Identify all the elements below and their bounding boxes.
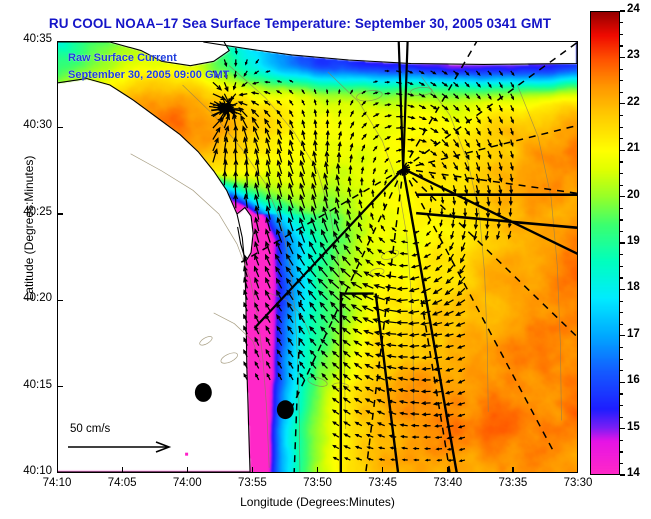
colorbar-minor-tick: [620, 34, 623, 35]
y-tick: [57, 213, 63, 214]
y-tick-label: 40:35: [2, 33, 52, 45]
colorbar-minor-tick: [620, 312, 623, 313]
colorbar-minor-tick: [620, 127, 623, 128]
colorbar-minor-tick: [620, 359, 623, 360]
colorbar-tick: [620, 474, 625, 475]
colorbar-tick-label: 22: [627, 96, 640, 108]
colorbar-minor-tick: [620, 463, 623, 464]
colorbar-minor-tick: [620, 451, 623, 452]
colorbar-tick-label: 21: [627, 142, 640, 154]
colorbar-tick: [620, 10, 625, 11]
colorbar-minor-tick: [620, 370, 623, 371]
colorbar-minor-tick: [620, 45, 623, 46]
x-tick: [252, 467, 253, 473]
x-tick-label: 73:45: [355, 477, 411, 489]
colorbar-tick-label: 18: [627, 281, 640, 293]
colorbar-minor-tick: [620, 347, 623, 348]
colorbar-gradient: [591, 12, 619, 474]
colorbar-tick: [620, 57, 625, 58]
plot-inner: [58, 42, 577, 472]
colorbar-tick-label: 17: [627, 328, 640, 340]
vector-scale-arrow-icon: [64, 439, 182, 455]
x-axis-title: Longitude (Degrees:Minutes): [57, 495, 578, 509]
annotation-block: Raw Surface Current September 30, 2005 0…: [68, 50, 229, 84]
colorbar-minor-tick: [620, 22, 623, 23]
x-tick-label: 74:10: [29, 477, 85, 489]
x-tick-label: 73:40: [420, 477, 476, 489]
annotation-line-1: Raw Surface Current: [68, 50, 229, 67]
x-tick-label: 73:35: [485, 477, 541, 489]
x-tick: [187, 467, 188, 473]
colorbar-tick: [620, 289, 625, 290]
y-tick-label: 40:15: [2, 379, 52, 391]
page-title: RU COOL NOAA–17 Sea Surface Temperature:…: [0, 16, 600, 31]
y-tick-label: 40:10: [2, 465, 52, 477]
colorbar: [590, 11, 620, 475]
vector-scale-key: 50 cm/s: [64, 423, 194, 460]
colorbar-tick: [620, 103, 625, 104]
x-tick: [447, 467, 448, 473]
colorbar-tick-label: 23: [627, 49, 640, 61]
colorbar-tick-label: 15: [627, 421, 640, 433]
vector-scale-label: 50 cm/s: [64, 423, 194, 435]
annotation-line-2: September 30, 2005 09:00 GMT: [68, 67, 229, 84]
colorbar-minor-tick: [620, 266, 623, 267]
colorbar-minor-tick: [620, 231, 623, 232]
colorbar-minor-tick: [620, 115, 623, 116]
colorbar-minor-tick: [620, 254, 623, 255]
y-tick: [57, 386, 63, 387]
colorbar-minor-tick: [620, 301, 623, 302]
colorbar-tick: [620, 335, 625, 336]
x-tick: [382, 467, 383, 473]
colorbar-tick: [620, 196, 625, 197]
y-tick: [57, 300, 63, 301]
y-axis-title: Latitude (Degrees:Minutes): [22, 103, 36, 353]
x-tick: [122, 467, 123, 473]
x-tick-label: 74:05: [94, 477, 150, 489]
sst-heatmap-canvas: [58, 42, 577, 472]
colorbar-minor-tick: [620, 393, 623, 394]
colorbar-tick: [620, 242, 625, 243]
colorbar-minor-tick: [620, 80, 623, 81]
colorbar-minor-tick: [620, 208, 623, 209]
colorbar-minor-tick: [620, 324, 623, 325]
colorbar-tick-label: 14: [627, 467, 640, 479]
colorbar-minor-tick: [620, 161, 623, 162]
colorbar-minor-tick: [620, 69, 623, 70]
x-tick-label: 74:00: [159, 477, 215, 489]
y-tick: [57, 127, 63, 128]
colorbar-minor-tick: [620, 440, 623, 441]
colorbar-minor-tick: [620, 219, 623, 220]
sst-map-plot[interactable]: Raw Surface Current September 30, 2005 0…: [57, 41, 578, 473]
colorbar-tick-label: 19: [627, 235, 640, 247]
colorbar-tick: [620, 428, 625, 429]
colorbar-minor-tick: [620, 277, 623, 278]
colorbar-tick-label: 24: [627, 3, 640, 15]
colorbar-minor-tick: [620, 173, 623, 174]
x-tick-label: 73:30: [550, 477, 606, 489]
x-tick: [317, 467, 318, 473]
colorbar-minor-tick: [620, 92, 623, 93]
x-tick-label: 73:55: [224, 477, 280, 489]
colorbar-minor-tick: [620, 185, 623, 186]
colorbar-minor-tick: [620, 405, 623, 406]
x-tick-label: 73:50: [290, 477, 346, 489]
colorbar-tick: [620, 150, 625, 151]
x-tick: [512, 467, 513, 473]
colorbar-minor-tick: [620, 138, 623, 139]
colorbar-tick-label: 16: [627, 374, 640, 386]
colorbar-tick-label: 20: [627, 189, 640, 201]
colorbar-minor-tick: [620, 417, 623, 418]
colorbar-tick: [620, 382, 625, 383]
